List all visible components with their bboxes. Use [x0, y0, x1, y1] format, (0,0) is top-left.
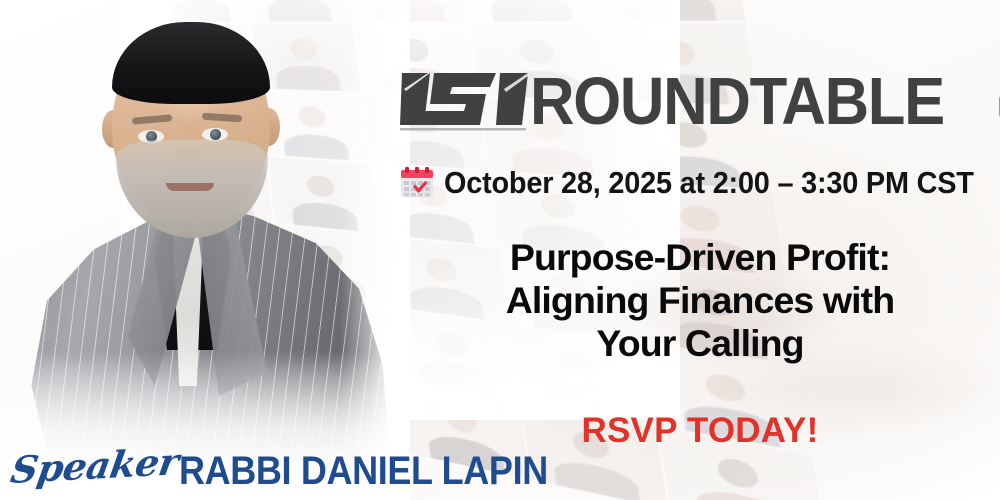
suit-lapel-left	[108, 196, 198, 386]
brand-logo-lockup: ROUNDTABLE	[400, 64, 1000, 140]
event-promo-banner: ROUNDTABLE	[0, 0, 1000, 500]
headline-line-1: Purpose-Driven Profit:	[400, 236, 1000, 279]
kippah-icon	[112, 22, 270, 104]
calendar-icon	[400, 166, 434, 200]
necktie-knot	[166, 200, 210, 234]
headline-line-2: Aligning Finances with	[400, 279, 1000, 322]
rsvp-call-to-action[interactable]: RSVP TODAY!	[400, 409, 1000, 453]
eyebrow-right	[202, 113, 242, 123]
ear-right	[258, 108, 280, 146]
speaker-label: Speaker	[8, 441, 181, 490]
head	[112, 28, 270, 220]
neck	[148, 160, 234, 222]
isi-logo-mark	[400, 67, 528, 137]
people-group-chat-icon	[992, 72, 1000, 132]
content-column: ROUNDTABLE	[400, 0, 1000, 500]
eyebrow-left	[132, 114, 172, 124]
beard	[116, 140, 268, 238]
headline-line-3: Your Calling	[400, 322, 1000, 365]
event-date-row: October 28, 2025 at 2:00 – 3:30 PM CST	[400, 160, 1000, 206]
eye-right	[202, 128, 228, 141]
event-date-text: October 28, 2025 at 2:00 – 3:30 PM CST	[444, 166, 974, 200]
speaker-name: RABBI DANIEL LAPIN	[179, 450, 548, 492]
nose	[176, 140, 202, 182]
mouth	[166, 183, 214, 191]
speaker-credit: Speaker RABBI DANIEL LAPIN	[8, 438, 408, 494]
necktie	[166, 206, 210, 386]
ear-left	[102, 110, 124, 148]
roundtable-wordmark: ROUNDTABLE	[530, 67, 944, 137]
event-headline: Purpose-Driven Profit: Aligning Finances…	[400, 236, 1000, 365]
speaker-portrait	[0, 0, 410, 500]
eye-left	[138, 130, 164, 143]
dress-shirt	[140, 190, 244, 350]
suit-lapel-right	[186, 196, 296, 396]
